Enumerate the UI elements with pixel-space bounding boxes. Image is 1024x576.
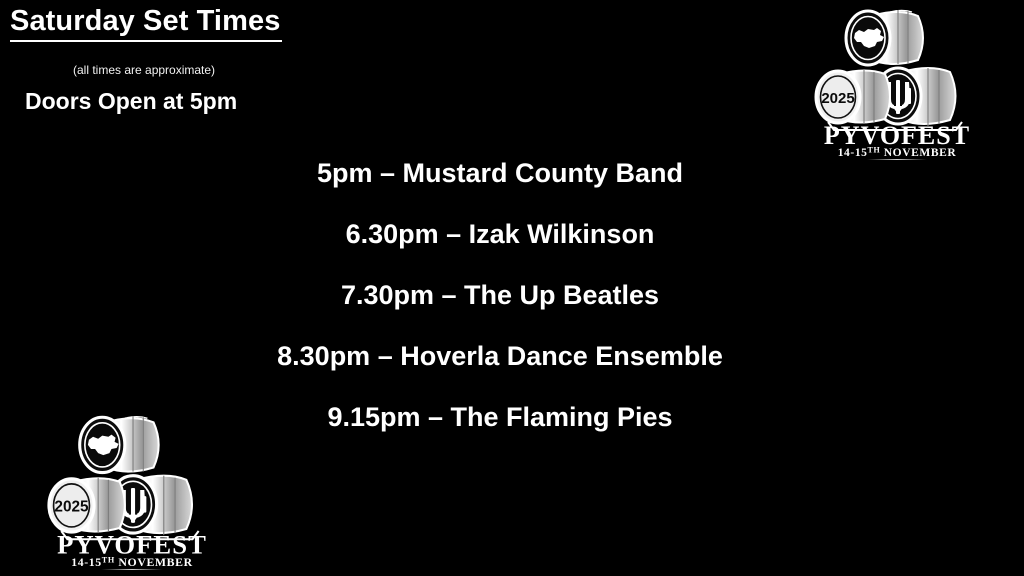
barrel-top-icon (846, 10, 923, 65)
barrel-left-icon: 2025 (816, 70, 890, 124)
pyvofest-logo-bottom-left: 2025 PYVOFEST 14-15TH NOVEMBER (42, 408, 222, 570)
barrel-year-label: 2025 (54, 499, 89, 516)
approximate-times-note: (all times are approximate) (73, 63, 215, 77)
pyvofest-logo-top-right: 2025 PYVOFEST 14-15TH NOVEMBER (812, 2, 982, 160)
set-time-row: 8.30pm – Hoverla Dance Ensemble (0, 326, 1000, 387)
set-time-row: 7.30pm – The Up Beatles (0, 265, 1000, 326)
logo-wordmark: PYVOFEST (824, 121, 970, 150)
barrel-top-icon (80, 416, 159, 472)
page-title: Saturday Set Times (10, 6, 280, 36)
barrel-year-label: 2025 (821, 90, 854, 107)
slide-canvas: Saturday Set Times (all times are approx… (0, 0, 1024, 576)
logo-dates: 14-15TH NOVEMBER (71, 555, 193, 569)
title-underline (10, 40, 282, 42)
set-time-row: 6.30pm – Izak Wilkinson (0, 204, 1000, 265)
logo-dates: 14-15TH NOVEMBER (838, 146, 957, 160)
set-times-list: 5pm – Mustard County Band 6.30pm – Izak … (0, 143, 1000, 448)
logo-divider (101, 569, 163, 570)
logo-divider (867, 159, 927, 160)
barrel-left-icon: 2025 (49, 478, 125, 533)
doors-open-text: Doors Open at 5pm (25, 88, 237, 115)
